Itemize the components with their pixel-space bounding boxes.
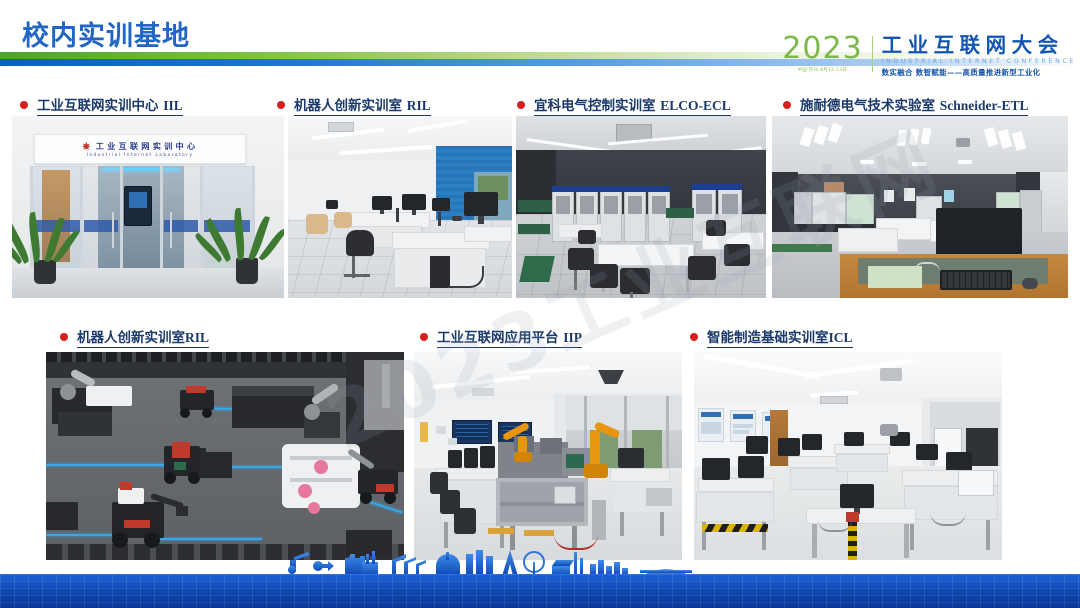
logo-name-en: INDUSTRIAL INTERNET CONFERENCE — [882, 58, 1076, 65]
plant-pot-right — [236, 258, 258, 284]
photo-industrial-internet-training-center-entrance: 工业互联网实训中心 Industrial Internet Laboratory — [12, 116, 284, 298]
caption-label: 机器人创新实训室RIL — [77, 326, 209, 348]
bullet-icon — [783, 101, 791, 109]
photo-smart-manufacturing-fundamentals-lab — [694, 352, 1002, 560]
photo-elco-electrical-control-lab — [516, 116, 766, 298]
maple-leaf-icon — [82, 142, 91, 151]
caption-code: RIL — [185, 330, 209, 345]
bullet-icon — [277, 101, 285, 109]
bullet-icon — [60, 333, 68, 341]
caption-code: RIL — [407, 98, 431, 113]
bullet-icon — [690, 333, 698, 341]
footer-grid-overlay — [0, 574, 1080, 608]
logo-name-cn: 工业互联网大会 — [882, 34, 1076, 56]
photo-canvas — [694, 352, 1002, 560]
photo-schneider-electrical-technology-lab — [772, 116, 1068, 298]
chair — [346, 230, 374, 256]
photo-robotics-innovation-lab-computers — [288, 116, 512, 298]
caption-label: 工业互联网应用平台 IIP — [437, 326, 582, 348]
caption-row1-item1: 工业互联网实训中心 IIL — [20, 94, 183, 116]
caption-code: IIL — [163, 98, 183, 113]
logo-year: 2023 — [782, 34, 862, 64]
logo-text-block: 工业互联网大会 INDUSTRIAL INTERNET CONFERENCE 数… — [873, 34, 1076, 78]
logo-tagline: 数实融合 数智赋能——高质量推进新型工业化 — [882, 67, 1076, 78]
caption-label: 宜科电气控制实训室 ELCO-ECL — [534, 94, 731, 116]
table — [598, 244, 694, 266]
hmi-panel — [554, 486, 576, 504]
photo-canvas — [414, 352, 682, 560]
caption-row1-item3: 宜科电气控制实训室 ELCO-ECL — [517, 94, 731, 116]
caption-label: 施耐德电气技术实验室 Schneider-ETL — [800, 94, 1028, 116]
footer-skyline — [0, 548, 1080, 576]
page-title: 校内实训基地 — [22, 14, 190, 53]
projector — [880, 368, 902, 381]
caption-label: 机器人创新实训室 RIL — [294, 94, 431, 116]
monitor — [464, 192, 498, 216]
photo-canvas — [516, 116, 766, 298]
conference-logo: 2023 中国·苏州 8月12-13日 工业互联网大会 INDUSTRIAL I… — [782, 34, 1076, 78]
photo-industrial-internet-application-platform — [414, 352, 682, 560]
sign-text-en: Industrial Internet Laboratory — [87, 153, 194, 158]
caption-row2-item2: 工业互联网应用平台 IIP — [420, 326, 582, 348]
monitor — [840, 484, 874, 508]
photo-canvas — [288, 116, 512, 298]
logo-year-block: 2023 中国·苏州 8月12-13日 — [782, 34, 871, 73]
entrance-sign: 工业互联网实训中心 Industrial Internet Laboratory — [34, 134, 246, 164]
skyline-icon — [0, 548, 1080, 576]
projector — [956, 138, 970, 147]
caption-code: ICL — [829, 330, 853, 345]
bullet-icon — [420, 333, 428, 341]
bullet-icon — [517, 101, 525, 109]
plant-pot-left — [34, 260, 56, 284]
caption-code: Schneider-ETL — [940, 98, 1029, 113]
photo-canvas: 工业互联网实训中心 Industrial Internet Laboratory — [12, 116, 284, 298]
caption-code: IIP — [563, 330, 582, 345]
mouse — [1022, 278, 1038, 289]
caption-row1-item4: 施耐德电气技术实验室 Schneider-ETL — [783, 94, 1028, 116]
monitor — [702, 458, 730, 480]
caption-row2-item1: 机器人创新实训室RIL — [60, 326, 209, 348]
caption-row2-item3: 智能制造基础实训室ICL — [690, 326, 853, 348]
slide-root: 校内实训基地 2023 中国·苏州 8月12-13日 工业互联网大会 INDUS… — [0, 0, 1080, 608]
caption-row1-item2: 机器人创新实训室 RIL — [277, 94, 431, 116]
caption-label: 智能制造基础实训室ICL — [707, 326, 853, 348]
caption-label: 工业互联网实训中心 IIL — [37, 94, 183, 116]
sign-text-cn: 工业互联网实训中心 — [96, 140, 199, 152]
logo-year-subtitle: 中国·苏州 8月12-13日 — [782, 67, 862, 73]
photo-robotics-arena-mobile-robots — [46, 352, 404, 560]
photo-canvas — [46, 352, 404, 560]
bullet-icon — [20, 101, 28, 109]
caption-code: ELCO-ECL — [660, 98, 731, 113]
photo-canvas — [772, 116, 1068, 298]
